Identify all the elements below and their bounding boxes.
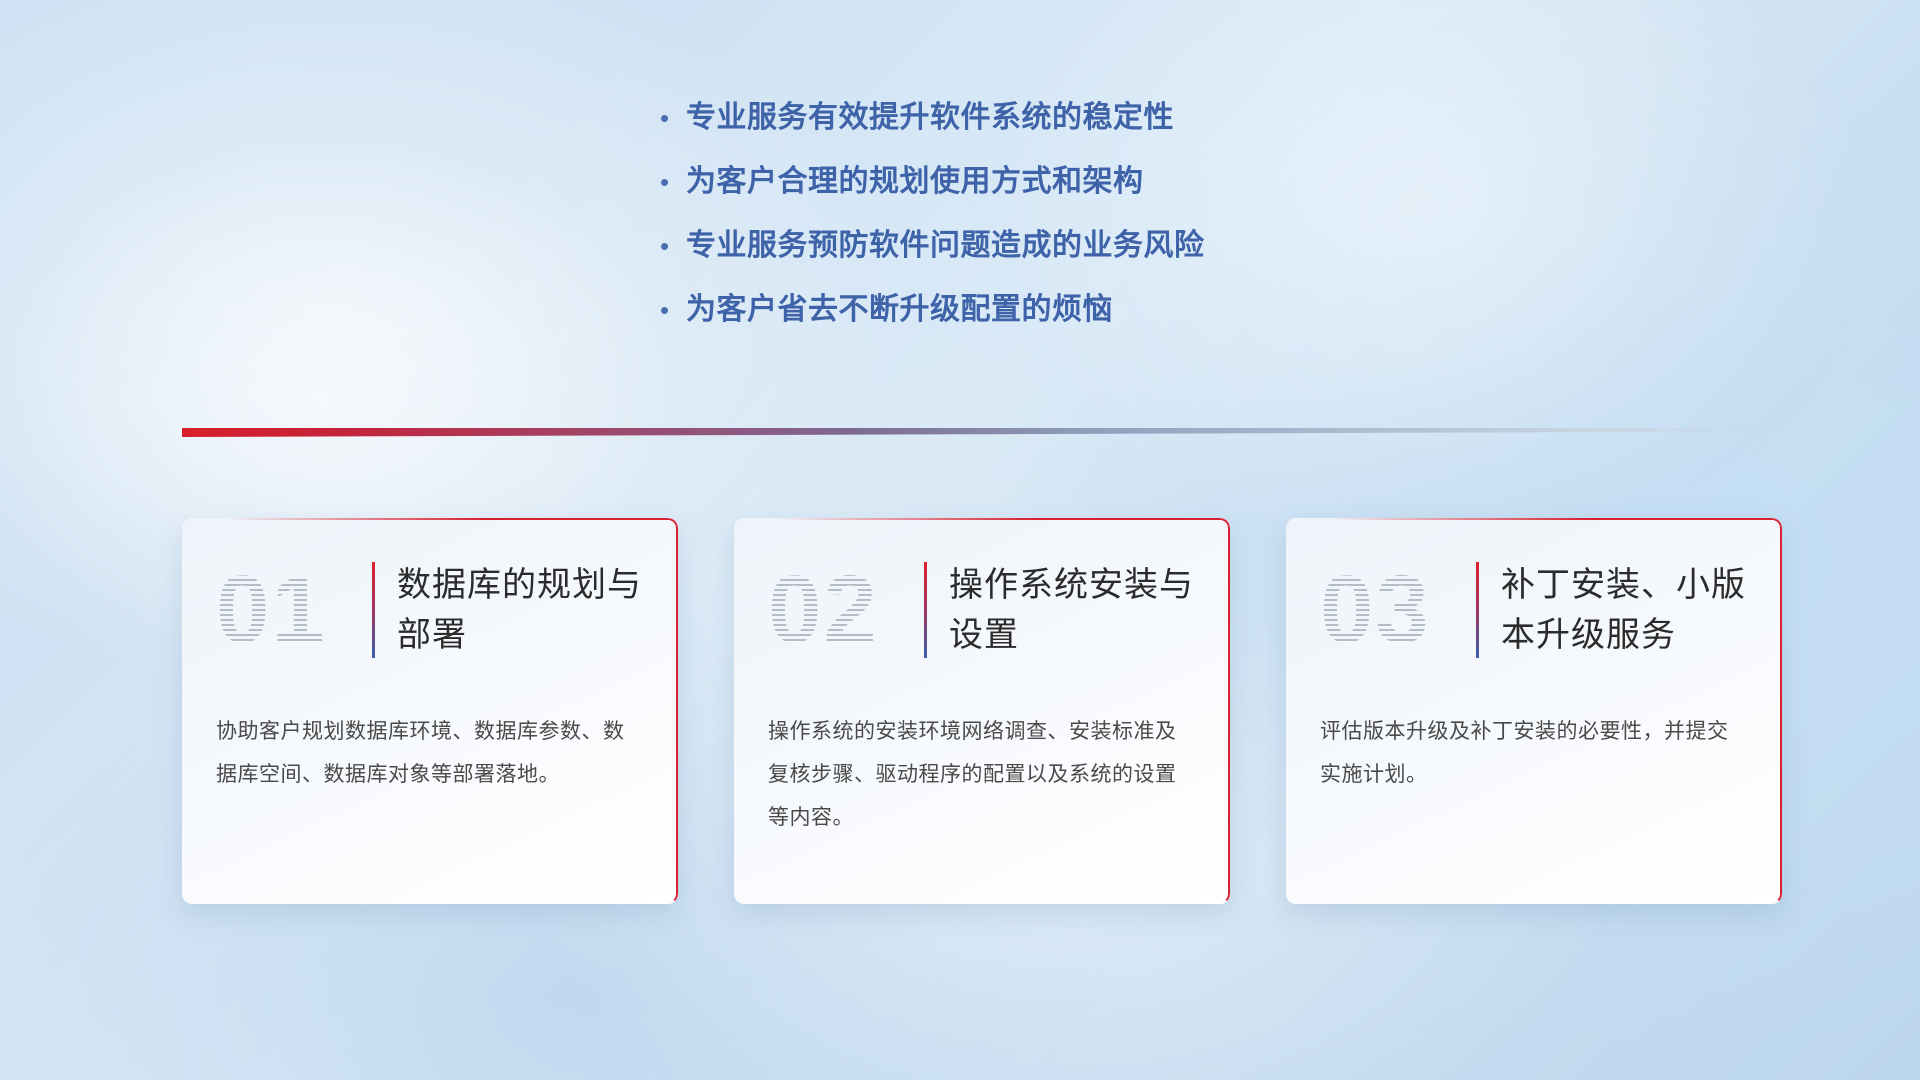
list-item: • 专业服务有效提升软件系统的稳定性 bbox=[660, 92, 1480, 156]
card-title: 数据库的规划与部署 bbox=[397, 554, 644, 660]
divider-gradient-bar bbox=[182, 428, 1782, 437]
bullet-marker-icon: • bbox=[660, 233, 686, 259]
card-description: 协助客户规划数据库环境、数据库参数、数据库空间、数据库对象等部署落地。 bbox=[216, 710, 644, 796]
service-card[interactable]: 0303 补丁安装、小版本升级服务 评估版本升级及补丁安装的必要性，并提交实施计… bbox=[1286, 518, 1782, 904]
card-divider-rule bbox=[372, 562, 375, 658]
card-header: 0101 数据库的规划与部署 bbox=[216, 554, 644, 680]
card-title: 操作系统安装与设置 bbox=[949, 554, 1196, 660]
card-description: 评估版本升级及补丁安装的必要性，并提交实施计划。 bbox=[1320, 710, 1748, 796]
card-title: 补丁安装、小版本升级服务 bbox=[1501, 554, 1748, 660]
service-card[interactable]: 0101 数据库的规划与部署 协助客户规划数据库环境、数据库参数、数据库空间、数… bbox=[182, 518, 678, 904]
service-card-group: 0101 数据库的规划与部署 协助客户规划数据库环境、数据库参数、数据库空间、数… bbox=[182, 518, 1782, 918]
card-divider-rule bbox=[924, 562, 927, 658]
service-card[interactable]: 0202 操作系统安装与设置 操作系统的安装环境网络调查、安装标准及复核步骤、驱… bbox=[734, 518, 1230, 904]
bullet-text: 为客户合理的规划使用方式和架构 bbox=[686, 156, 1144, 200]
bullet-text: 专业服务有效提升软件系统的稳定性 bbox=[686, 92, 1174, 136]
bullet-text: 为客户省去不断升级配置的烦恼 bbox=[686, 284, 1113, 328]
card-number-ghost: 02 bbox=[768, 554, 879, 666]
list-item: • 为客户合理的规划使用方式和架构 bbox=[660, 156, 1480, 220]
card-header: 0202 操作系统安装与设置 bbox=[768, 554, 1196, 680]
card-description: 操作系统的安装环境网络调查、安装标准及复核步骤、驱动程序的配置以及系统的设置等内… bbox=[768, 710, 1196, 839]
card-number-ghost: 03 bbox=[1320, 554, 1431, 666]
card-header: 0303 补丁安装、小版本升级服务 bbox=[1320, 554, 1748, 680]
list-item: • 专业服务预防软件问题造成的业务风险 bbox=[660, 220, 1480, 284]
bullet-marker-icon: • bbox=[660, 169, 686, 195]
card-number: 0202 bbox=[768, 554, 918, 672]
bullet-text: 专业服务预防软件问题造成的业务风险 bbox=[686, 220, 1205, 264]
bullet-marker-icon: • bbox=[660, 297, 686, 323]
benefits-bullet-list: • 专业服务有效提升软件系统的稳定性 • 为客户合理的规划使用方式和架构 • 专… bbox=[660, 92, 1480, 348]
card-number: 0101 bbox=[216, 554, 366, 672]
list-item: • 为客户省去不断升级配置的烦恼 bbox=[660, 284, 1480, 348]
section-divider bbox=[182, 428, 1782, 437]
card-number-ghost: 01 bbox=[216, 554, 327, 666]
slide-canvas: • 专业服务有效提升软件系统的稳定性 • 为客户合理的规划使用方式和架构 • 专… bbox=[0, 0, 1920, 1080]
card-divider-rule bbox=[1476, 562, 1479, 658]
card-number: 0303 bbox=[1320, 554, 1470, 672]
bullet-marker-icon: • bbox=[660, 105, 686, 131]
